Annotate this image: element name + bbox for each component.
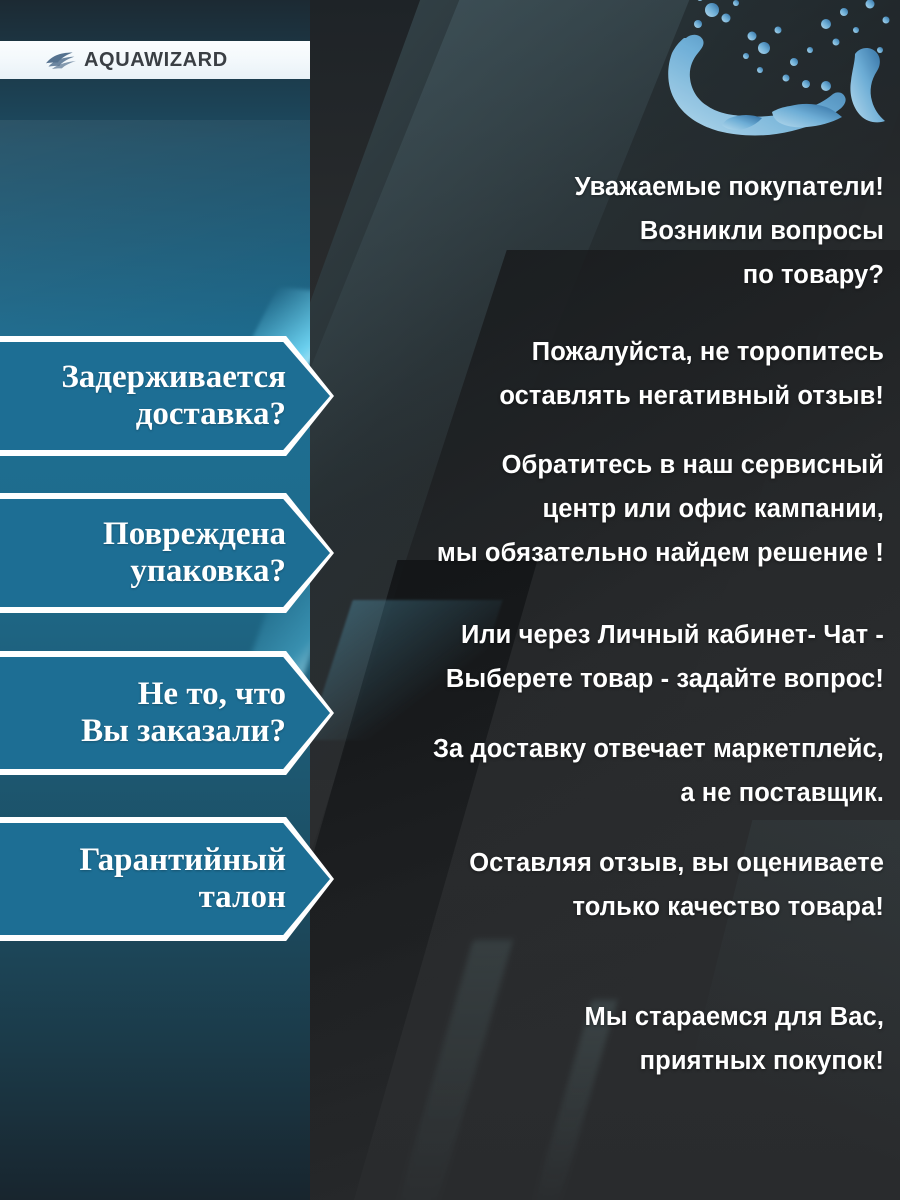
- poster-canvas: AQUAWIZARD Задерживается доставка? Повре…: [0, 0, 900, 1200]
- ribbon-label: Гарантийный талон: [80, 842, 287, 916]
- ribbon-label: Повреждена упаковка?: [103, 516, 286, 590]
- ribbon-warranty-card[interactable]: Гарантийный талон: [0, 823, 330, 935]
- message-paragraph-greeting: Уважаемые покупатели! Возникли вопросы п…: [330, 165, 884, 297]
- ribbon-label: Задерживается доставка?: [61, 359, 286, 433]
- message-paragraph-closing: Мы стараемся для Вас, приятных покупок!: [330, 995, 884, 1083]
- message-paragraph-request: Пожалуйста, не торопитесь оставлять нега…: [330, 330, 884, 418]
- message-paragraph-service: Обратитесь в наш сервисный центр или офи…: [330, 443, 884, 575]
- brand-name: AQUAWIZARD: [84, 49, 228, 72]
- message-paragraph-delivery: За доставку отвечает маркетплейс, а не п…: [330, 727, 884, 815]
- wave-icon: [44, 50, 78, 70]
- ribbon-damaged-packaging[interactable]: Повреждена упаковка?: [0, 499, 330, 607]
- message-column: Уважаемые покупатели! Возникли вопросы п…: [330, 0, 884, 1200]
- ribbon-wrong-item[interactable]: Не то, что Вы заказали?: [0, 657, 330, 769]
- message-paragraph-review: Оставляя отзыв, вы оцениваете только кач…: [330, 841, 884, 929]
- message-paragraph-chat: Или через Личный кабинет- Чат - Выберете…: [330, 613, 884, 701]
- ribbon-label: Не то, что Вы заказали?: [81, 676, 286, 750]
- ribbon-delivery-delayed[interactable]: Задерживается доставка?: [0, 342, 330, 450]
- brand-logo-bar: AQUAWIZARD: [0, 41, 310, 79]
